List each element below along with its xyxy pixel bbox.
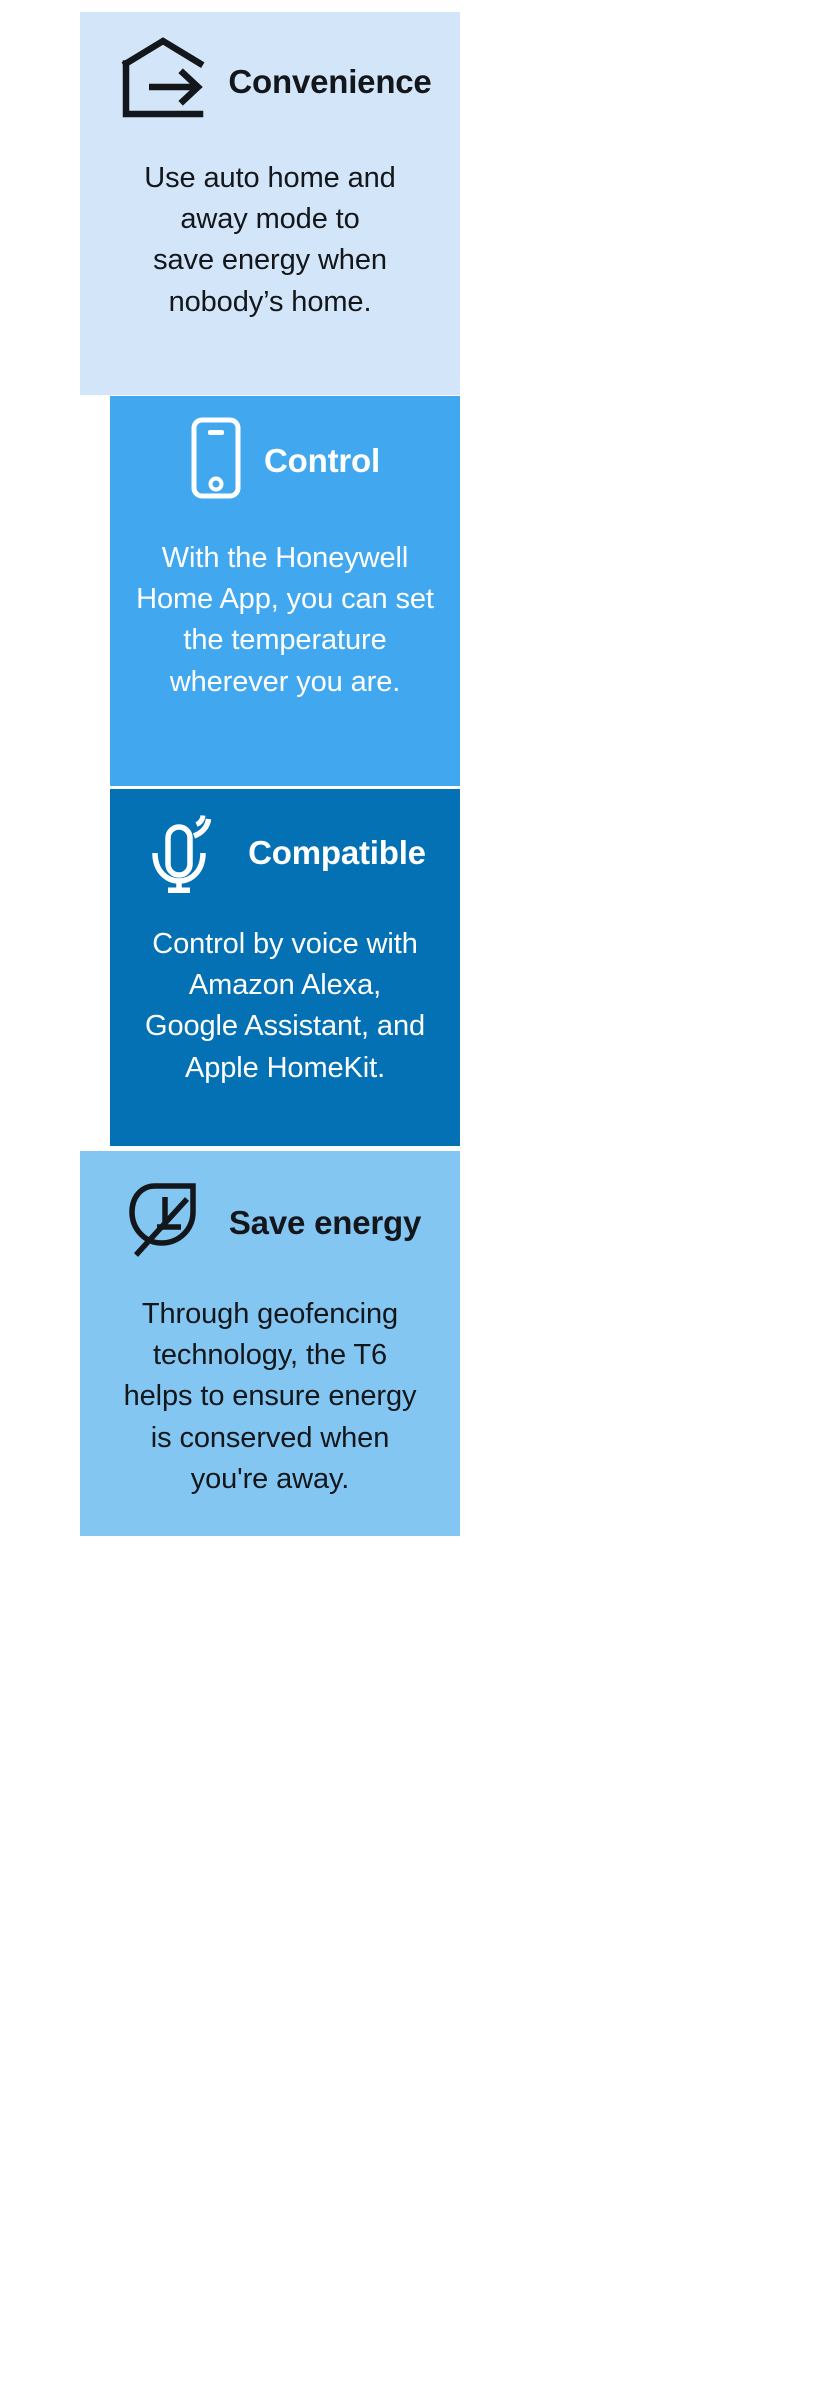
smartphone-icon — [190, 416, 242, 505]
panel-title-convenience: Convenience — [228, 65, 431, 98]
panel-body-save-energy: Through geofencing technology, the T6 he… — [100, 1294, 440, 1500]
feature-panel-control: Control With the Honeywell Home App, you… — [110, 396, 460, 786]
leaf-icon — [127, 1179, 207, 1266]
panel-header-convenience: Convenience — [75, 35, 465, 128]
feature-panel-stack: Convenience Use auto home and away mode … — [0, 0, 828, 2401]
feature-panel-compatible: Compatible Control by voice with Amazon … — [110, 789, 460, 1146]
panel-title-save-energy: Save energy — [229, 1206, 421, 1239]
panel-title-compatible: Compatible — [248, 836, 426, 869]
feature-panel-convenience: Convenience Use auto home and away mode … — [80, 12, 460, 395]
microphone-voice-icon — [144, 807, 228, 898]
panel-body-control: With the Honeywell Home App, you can set… — [125, 538, 445, 703]
home-with-arrow-icon — [118, 35, 208, 128]
panel-body-convenience: Use auto home and away mode to save ener… — [105, 158, 435, 323]
panel-body-compatible: Control by voice with Amazon Alexa, Goog… — [120, 924, 450, 1089]
panel-header-save-energy: Save energy — [76, 1179, 464, 1266]
panel-header-compatible: Compatible — [110, 807, 460, 898]
panel-header-control: Control — [110, 416, 460, 505]
panel-title-control: Control — [264, 444, 380, 477]
feature-panel-save-energy: Save energy Through geofencing technolog… — [80, 1151, 460, 1536]
